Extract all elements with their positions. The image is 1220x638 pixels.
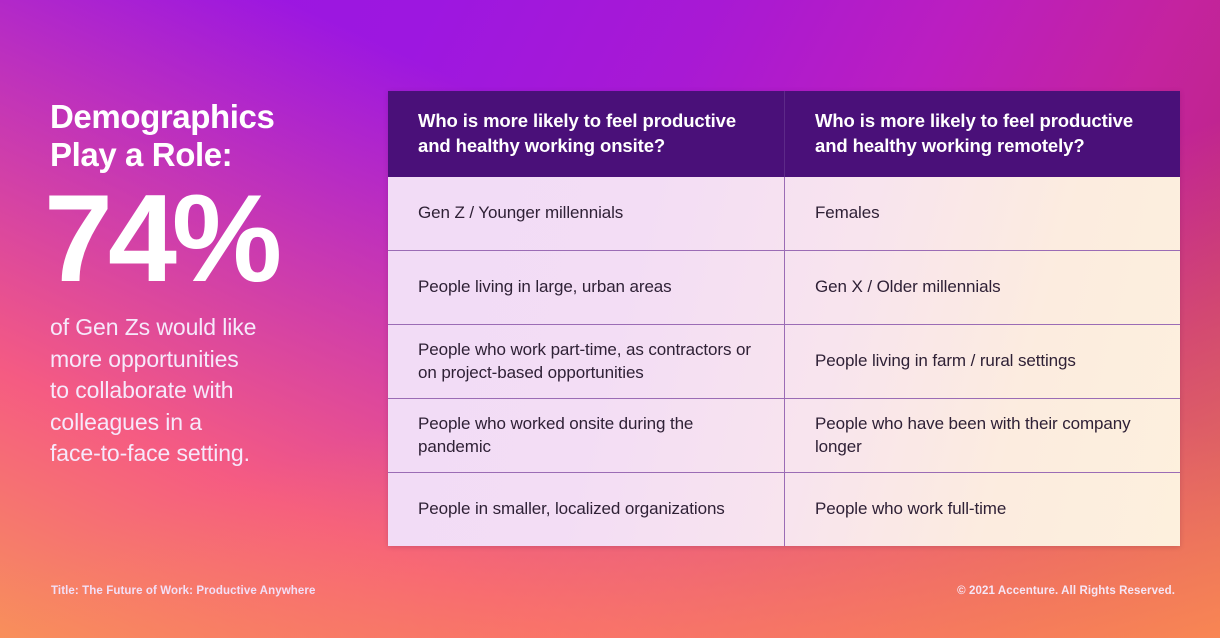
- table-row: People in smaller, localized organizatio…: [388, 472, 1180, 546]
- cell-onsite-3: People who work part-time, as contractor…: [388, 325, 784, 398]
- cell-remote-4: People who have been with their company …: [784, 399, 1180, 472]
- table-header-onsite: Who is more likely to feel productive an…: [388, 91, 784, 177]
- cell-remote-2: Gen X / Older millennials: [784, 251, 1180, 324]
- cell-remote-1: Females: [784, 177, 1180, 250]
- table-header-row: Who is more likely to feel productive an…: [388, 91, 1180, 177]
- table-row: People who worked onsite during the pand…: [388, 398, 1180, 472]
- table-header-remote: Who is more likely to feel productive an…: [784, 91, 1180, 177]
- table-body: Gen Z / Younger millennials Females Peop…: [388, 177, 1180, 546]
- page-title: Demographics Play a Role:: [50, 98, 370, 175]
- comparison-table: Who is more likely to feel productive an…: [388, 91, 1180, 546]
- cell-remote-3: People living in farm / rural settings: [784, 325, 1180, 398]
- stat-percentage: 74%: [44, 181, 370, 299]
- cell-onsite-1: Gen Z / Younger millennials: [388, 177, 784, 250]
- cell-onsite-5: People in smaller, localized organizatio…: [388, 473, 784, 546]
- cell-onsite-2: People living in large, urban areas: [388, 251, 784, 324]
- table-row: Gen Z / Younger millennials Females: [388, 177, 1180, 250]
- cell-remote-5: People who work full-time: [784, 473, 1180, 546]
- infographic-canvas: Demographics Play a Role: 74% of Gen Zs …: [0, 0, 1220, 638]
- left-panel: Demographics Play a Role: 74% of Gen Zs …: [50, 98, 370, 470]
- footer-title: Title: The Future of Work: Productive An…: [51, 585, 315, 597]
- table-row: People living in large, urban areas Gen …: [388, 250, 1180, 324]
- stat-description: of Gen Zs would like more opportunities …: [50, 312, 370, 470]
- table-row: People who work part-time, as contractor…: [388, 324, 1180, 398]
- footer-copyright: © 2021 Accenture. All Rights Reserved.: [957, 585, 1175, 597]
- cell-onsite-4: People who worked onsite during the pand…: [388, 399, 784, 472]
